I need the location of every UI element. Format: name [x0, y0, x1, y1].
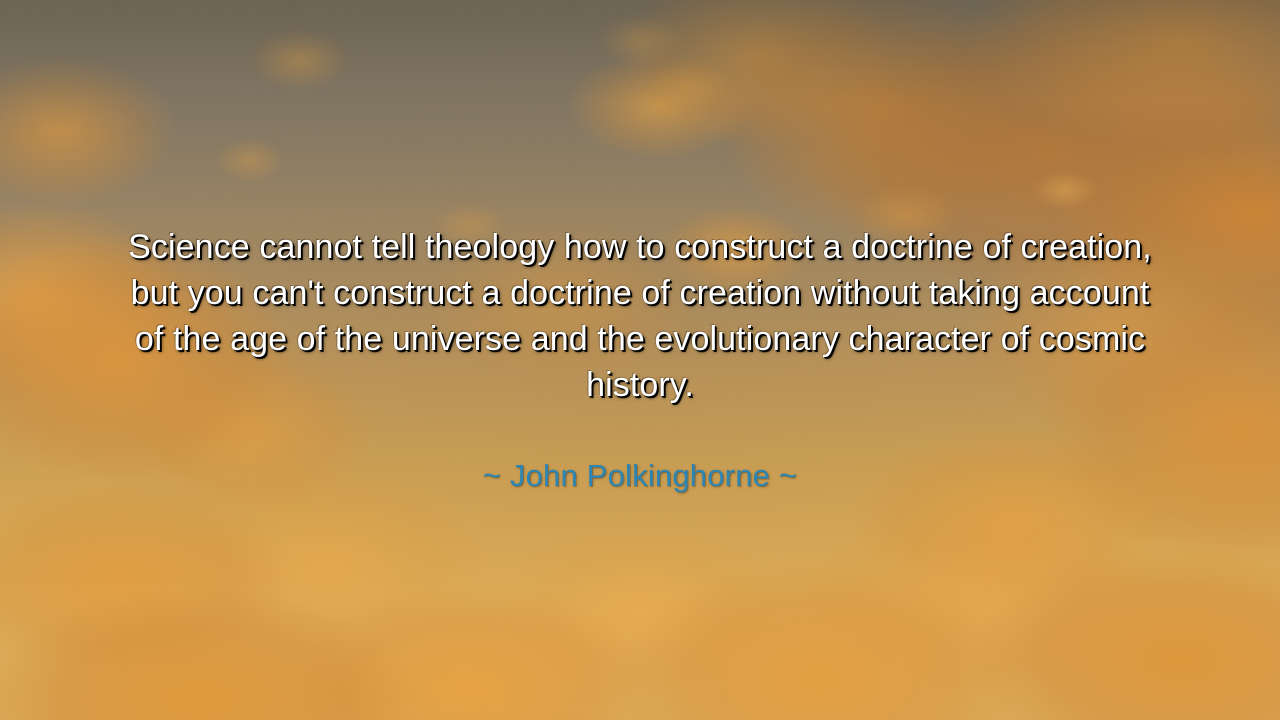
quote-card: Science cannot tell theology how to cons…	[0, 0, 1280, 720]
quote-overlay: Science cannot tell theology how to cons…	[0, 0, 1280, 720]
quote-text: Science cannot tell theology how to cons…	[112, 224, 1168, 408]
quote-author: ~ John Polkinghorne ~	[483, 456, 797, 496]
